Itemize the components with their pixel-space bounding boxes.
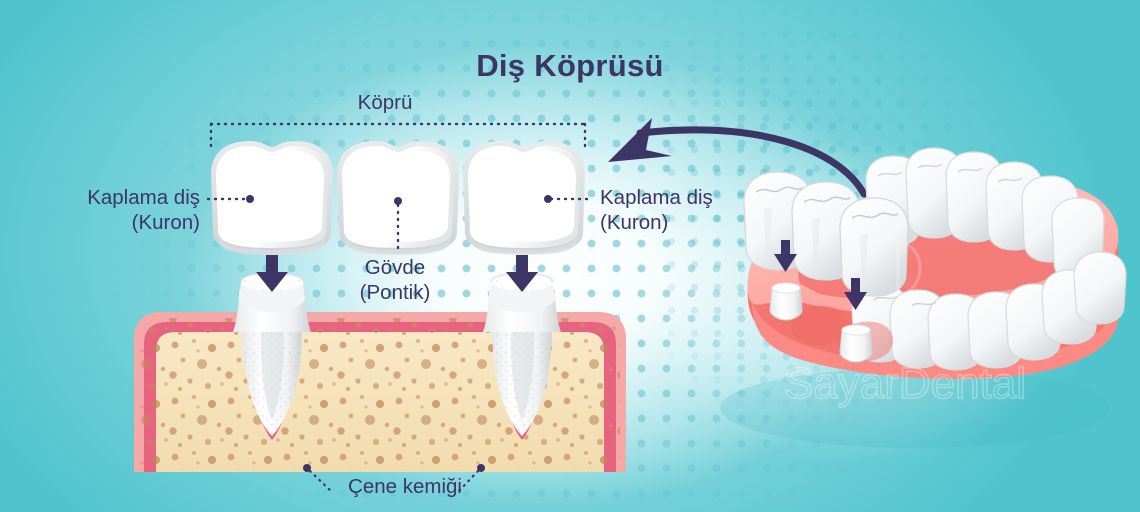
label-crown-right-line2: (Kuron) bbox=[600, 210, 820, 235]
label-crown-right: Kaplama diş (Kuron) bbox=[600, 185, 820, 235]
label-pontic-line1: Gövde bbox=[340, 255, 450, 280]
crown-right bbox=[463, 141, 585, 255]
label-pontic-line2: (Pontik) bbox=[340, 280, 450, 305]
infographic-canvas: SayarDental Diş Köprüsü Köprü Kaplama di… bbox=[0, 0, 1140, 512]
jawbone-cross-section bbox=[134, 312, 626, 478]
model-abutment-stump-left bbox=[770, 283, 802, 320]
label-jawbone-text: Çene kemiği bbox=[0, 474, 810, 499]
page-title: Diş Köprüsü bbox=[0, 48, 1140, 84]
watermark-text: SayarDental bbox=[784, 359, 1026, 408]
label-bridge: Köprü bbox=[330, 90, 440, 115]
label-crown-left: Kaplama diş (Kuron) bbox=[0, 185, 200, 235]
model-abutment-stump-right bbox=[840, 325, 872, 362]
label-jawbone: Çene kemiği bbox=[0, 474, 810, 499]
label-crown-left-line2: (Kuron) bbox=[0, 210, 200, 235]
label-crown-right-line1: Kaplama diş bbox=[600, 185, 820, 210]
label-pontic: Gövde (Pontik) bbox=[340, 255, 450, 305]
label-bridge-text: Köprü bbox=[330, 90, 440, 115]
label-crown-left-line1: Kaplama diş bbox=[0, 185, 200, 210]
